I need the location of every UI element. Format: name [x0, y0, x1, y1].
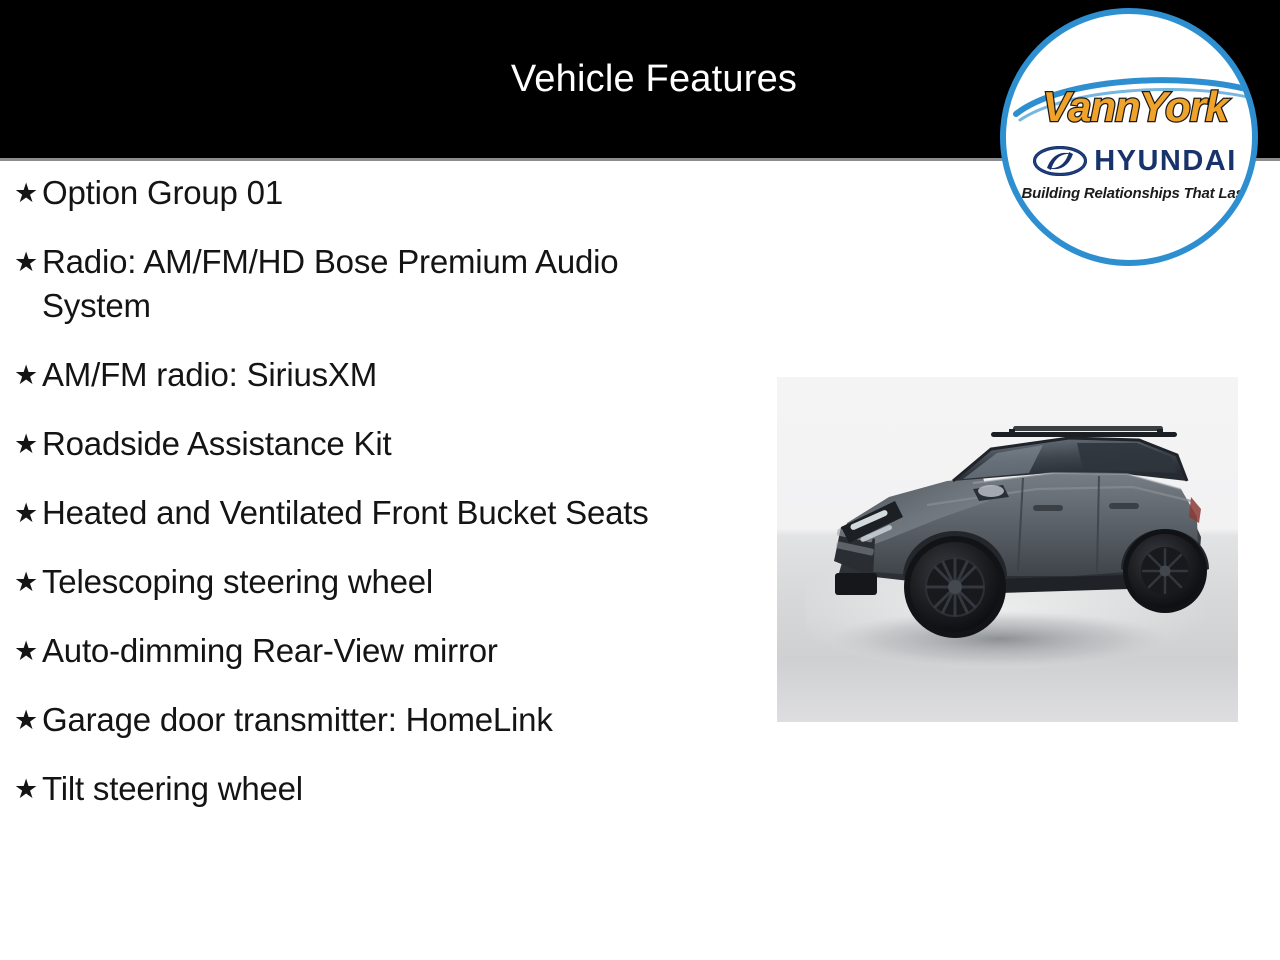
star-bullet-icon: ★: [0, 240, 42, 284]
list-item: ★ Auto-dimming Rear-View mirror: [0, 629, 760, 673]
star-bullet-icon: ★: [0, 629, 42, 673]
dealer-brand-name: VannYork: [1006, 86, 1258, 128]
list-item: ★ Tilt steering wheel: [0, 767, 760, 811]
list-item: ★ Garage door transmitter: HomeLink: [0, 698, 760, 742]
list-item: ★ Radio: AM/FM/HD Bose Premium Audio Sys…: [0, 240, 760, 328]
dealer-tagline: Building Relationships That Last: [1006, 186, 1258, 201]
list-item: ★ Heated and Ventilated Front Bucket Sea…: [0, 491, 760, 535]
vehicle-photo: [777, 377, 1238, 722]
dealer-logo-inner: VannYork HYUNDAI Building Relationships …: [1006, 14, 1252, 260]
star-bullet-icon: ★: [0, 353, 42, 397]
star-bullet-icon: ★: [0, 560, 42, 604]
feature-label: Tilt steering wheel: [42, 767, 692, 811]
suv-illustration: [777, 377, 1238, 722]
star-bullet-icon: ★: [0, 698, 42, 742]
vehicle-feature-list: ★ Option Group 01 ★ Radio: AM/FM/HD Bose…: [0, 161, 760, 811]
feature-label: Telescoping steering wheel: [42, 560, 692, 604]
star-bullet-icon: ★: [0, 422, 42, 466]
star-bullet-icon: ★: [0, 171, 42, 215]
manufacturer-name: HYUNDAI: [1094, 147, 1237, 176]
star-bullet-icon: ★: [0, 767, 42, 811]
feature-label: Garage door transmitter: HomeLink: [42, 698, 692, 742]
feature-label: Radio: AM/FM/HD Bose Premium Audio Syste…: [42, 240, 692, 328]
feature-label: Heated and Ventilated Front Bucket Seats: [42, 491, 692, 535]
feature-label: Roadside Assistance Kit: [42, 422, 692, 466]
dealer-logo-badge[interactable]: VannYork HYUNDAI Building Relationships …: [1000, 8, 1258, 266]
list-item: ★ Option Group 01: [0, 171, 760, 215]
list-item: ★ Roadside Assistance Kit: [0, 422, 760, 466]
feature-label: Auto-dimming Rear-View mirror: [42, 629, 692, 673]
feature-label: Option Group 01: [42, 171, 692, 215]
list-item: ★ AM/FM radio: SiriusXM: [0, 353, 760, 397]
hyundai-brand-row: HYUNDAI: [1006, 146, 1258, 176]
star-bullet-icon: ★: [0, 491, 42, 535]
hyundai-logo-icon: [1033, 146, 1087, 176]
feature-label: AM/FM radio: SiriusXM: [42, 353, 692, 397]
list-item: ★ Telescoping steering wheel: [0, 560, 760, 604]
